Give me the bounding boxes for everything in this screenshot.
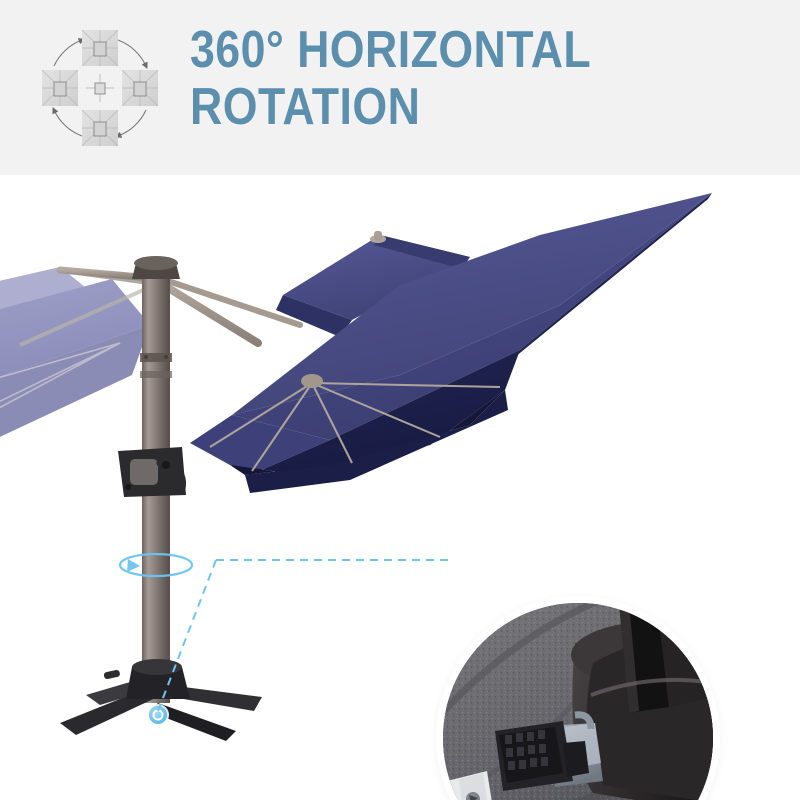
product-feature-image: 360° HORIZONTAL ROTATION (0, 0, 800, 800)
360-rotation-diagram-icon (34, 22, 166, 154)
callout-leader-line (158, 560, 452, 711)
page-title: 360° HORIZONTAL ROTATION (190, 22, 790, 136)
umbrella-canopy (190, 193, 712, 493)
foot-pedal-location-marker (147, 704, 169, 726)
title-line-1: 360° HORIZONTAL (190, 22, 706, 79)
ghost-umbrella (0, 267, 152, 465)
header-band: 360° HORIZONTAL ROTATION (0, 0, 800, 175)
umbrella-illustration: Stepping on the Foot Pedal and Turning t… (0, 175, 800, 800)
foot-pedal-closeup-photo (443, 603, 713, 800)
tilt-pivot-bracket (118, 447, 186, 497)
title-line-2: ROTATION (190, 79, 706, 136)
